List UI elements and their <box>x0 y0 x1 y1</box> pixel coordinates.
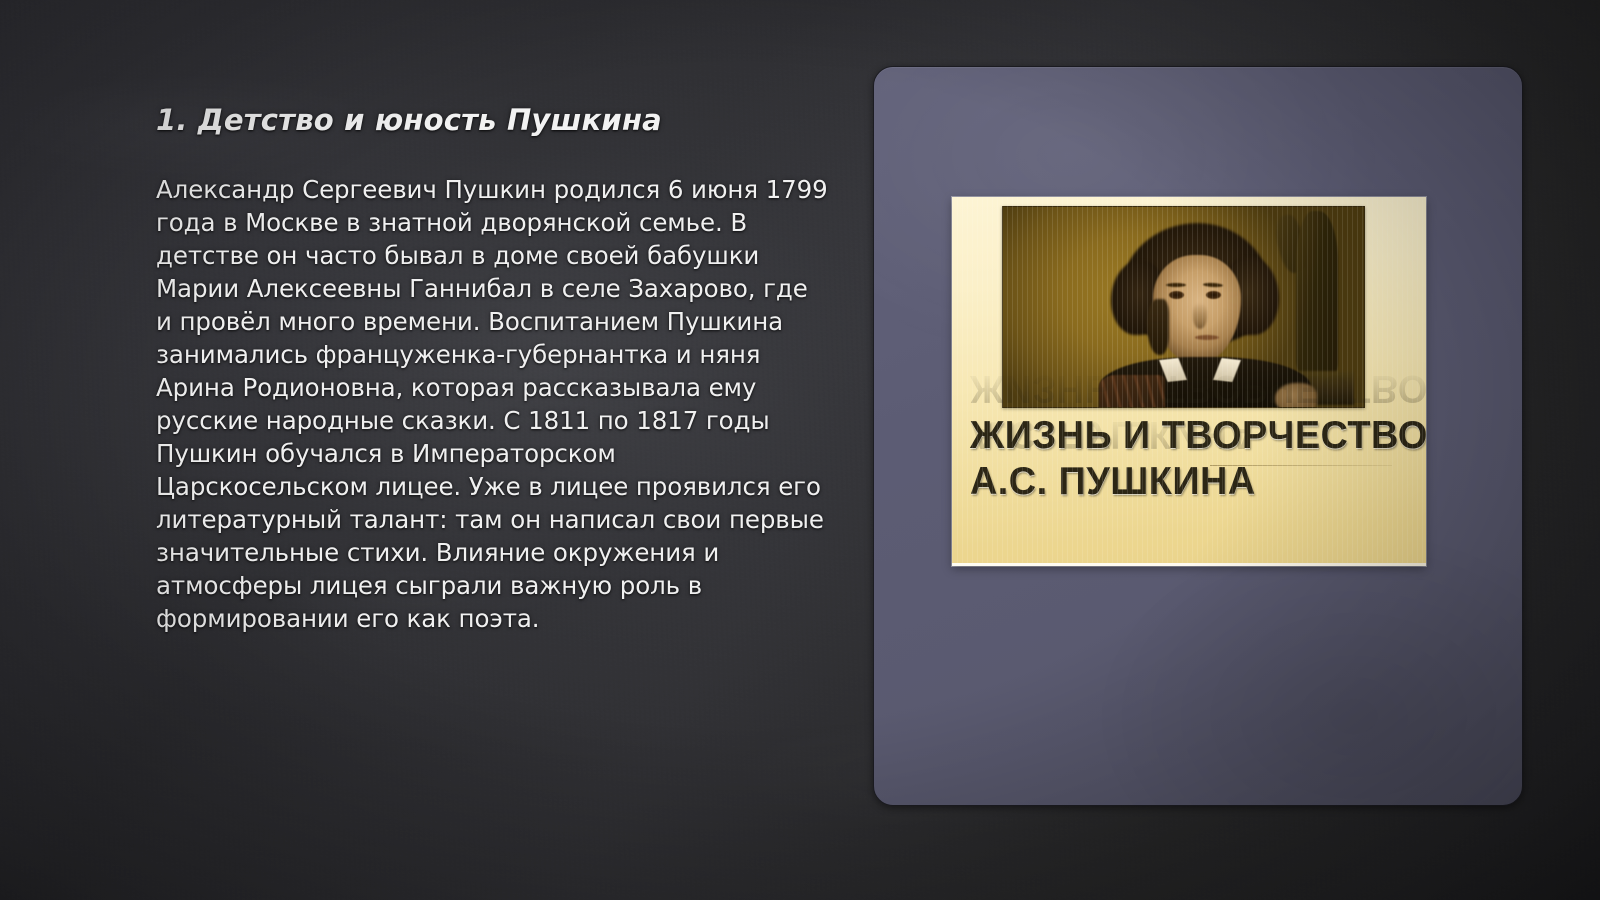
slide-body-paragraph: Александр Сергеевич Пушкин родился 6 июн… <box>156 173 828 635</box>
portrait-left-eyebrow <box>1166 283 1186 287</box>
poster-caption: ЖИЗНЬ И ТВОРЧЕСТВО ЖИЗНЬ И ТВОРЧЕСТВО А.… <box>970 413 1410 505</box>
portrait-mouth <box>1195 335 1219 340</box>
picture-panel: ЖИЗНЬ И ТВОРЧЕСТВО ЖИЗНЬ И ТВОРЧЕСТВО А.… <box>873 66 1523 806</box>
presentation-slide: 1. Детство и юность Пушкина Александр Се… <box>0 0 1600 900</box>
portrait-sideburn <box>1147 299 1169 355</box>
portrait-right-eye <box>1206 291 1221 299</box>
portrait-nose <box>1193 303 1207 329</box>
pushkin-poster-card: ЖИЗНЬ И ТВОРЧЕСТВО ЖИЗНЬ И ТВОРЧЕСТВО А.… <box>952 197 1426 566</box>
slide-title: 1. Детство и юность Пушкина <box>156 104 846 137</box>
slide-text-column: 1. Детство и юность Пушкина Александр Се… <box>156 104 846 635</box>
statue-body <box>1296 211 1338 379</box>
portrait-left-eye <box>1169 291 1184 299</box>
pushkin-portrait-image <box>1002 206 1365 408</box>
poster-underline-rule <box>1210 465 1392 466</box>
poster-caption-line-1: ЖИЗНЬ И ТВОРЧЕСТВО <box>970 413 1397 459</box>
poster-bottom-edge <box>952 563 1426 566</box>
portrait-plaid-cloak <box>1099 375 1165 408</box>
portrait-hand <box>1275 383 1317 408</box>
